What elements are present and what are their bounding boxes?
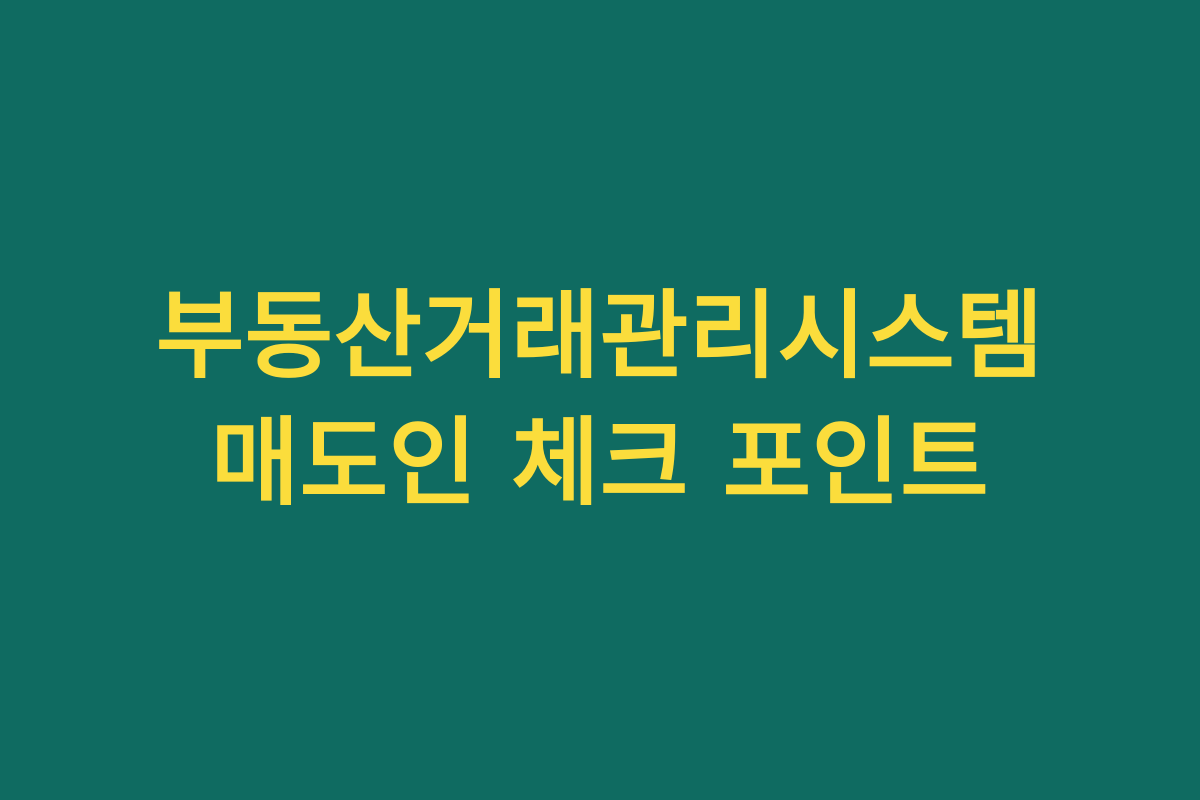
title-card: 부동산거래관리시스템 매도인 체크 포인트 <box>0 0 1200 800</box>
headline-block: 부동산거래관리시스템 매도인 체크 포인트 <box>156 274 1044 526</box>
headline-line-2: 매도인 체크 포인트 <box>156 401 1044 526</box>
headline-line-1: 부동산거래관리시스템 <box>156 274 1044 399</box>
